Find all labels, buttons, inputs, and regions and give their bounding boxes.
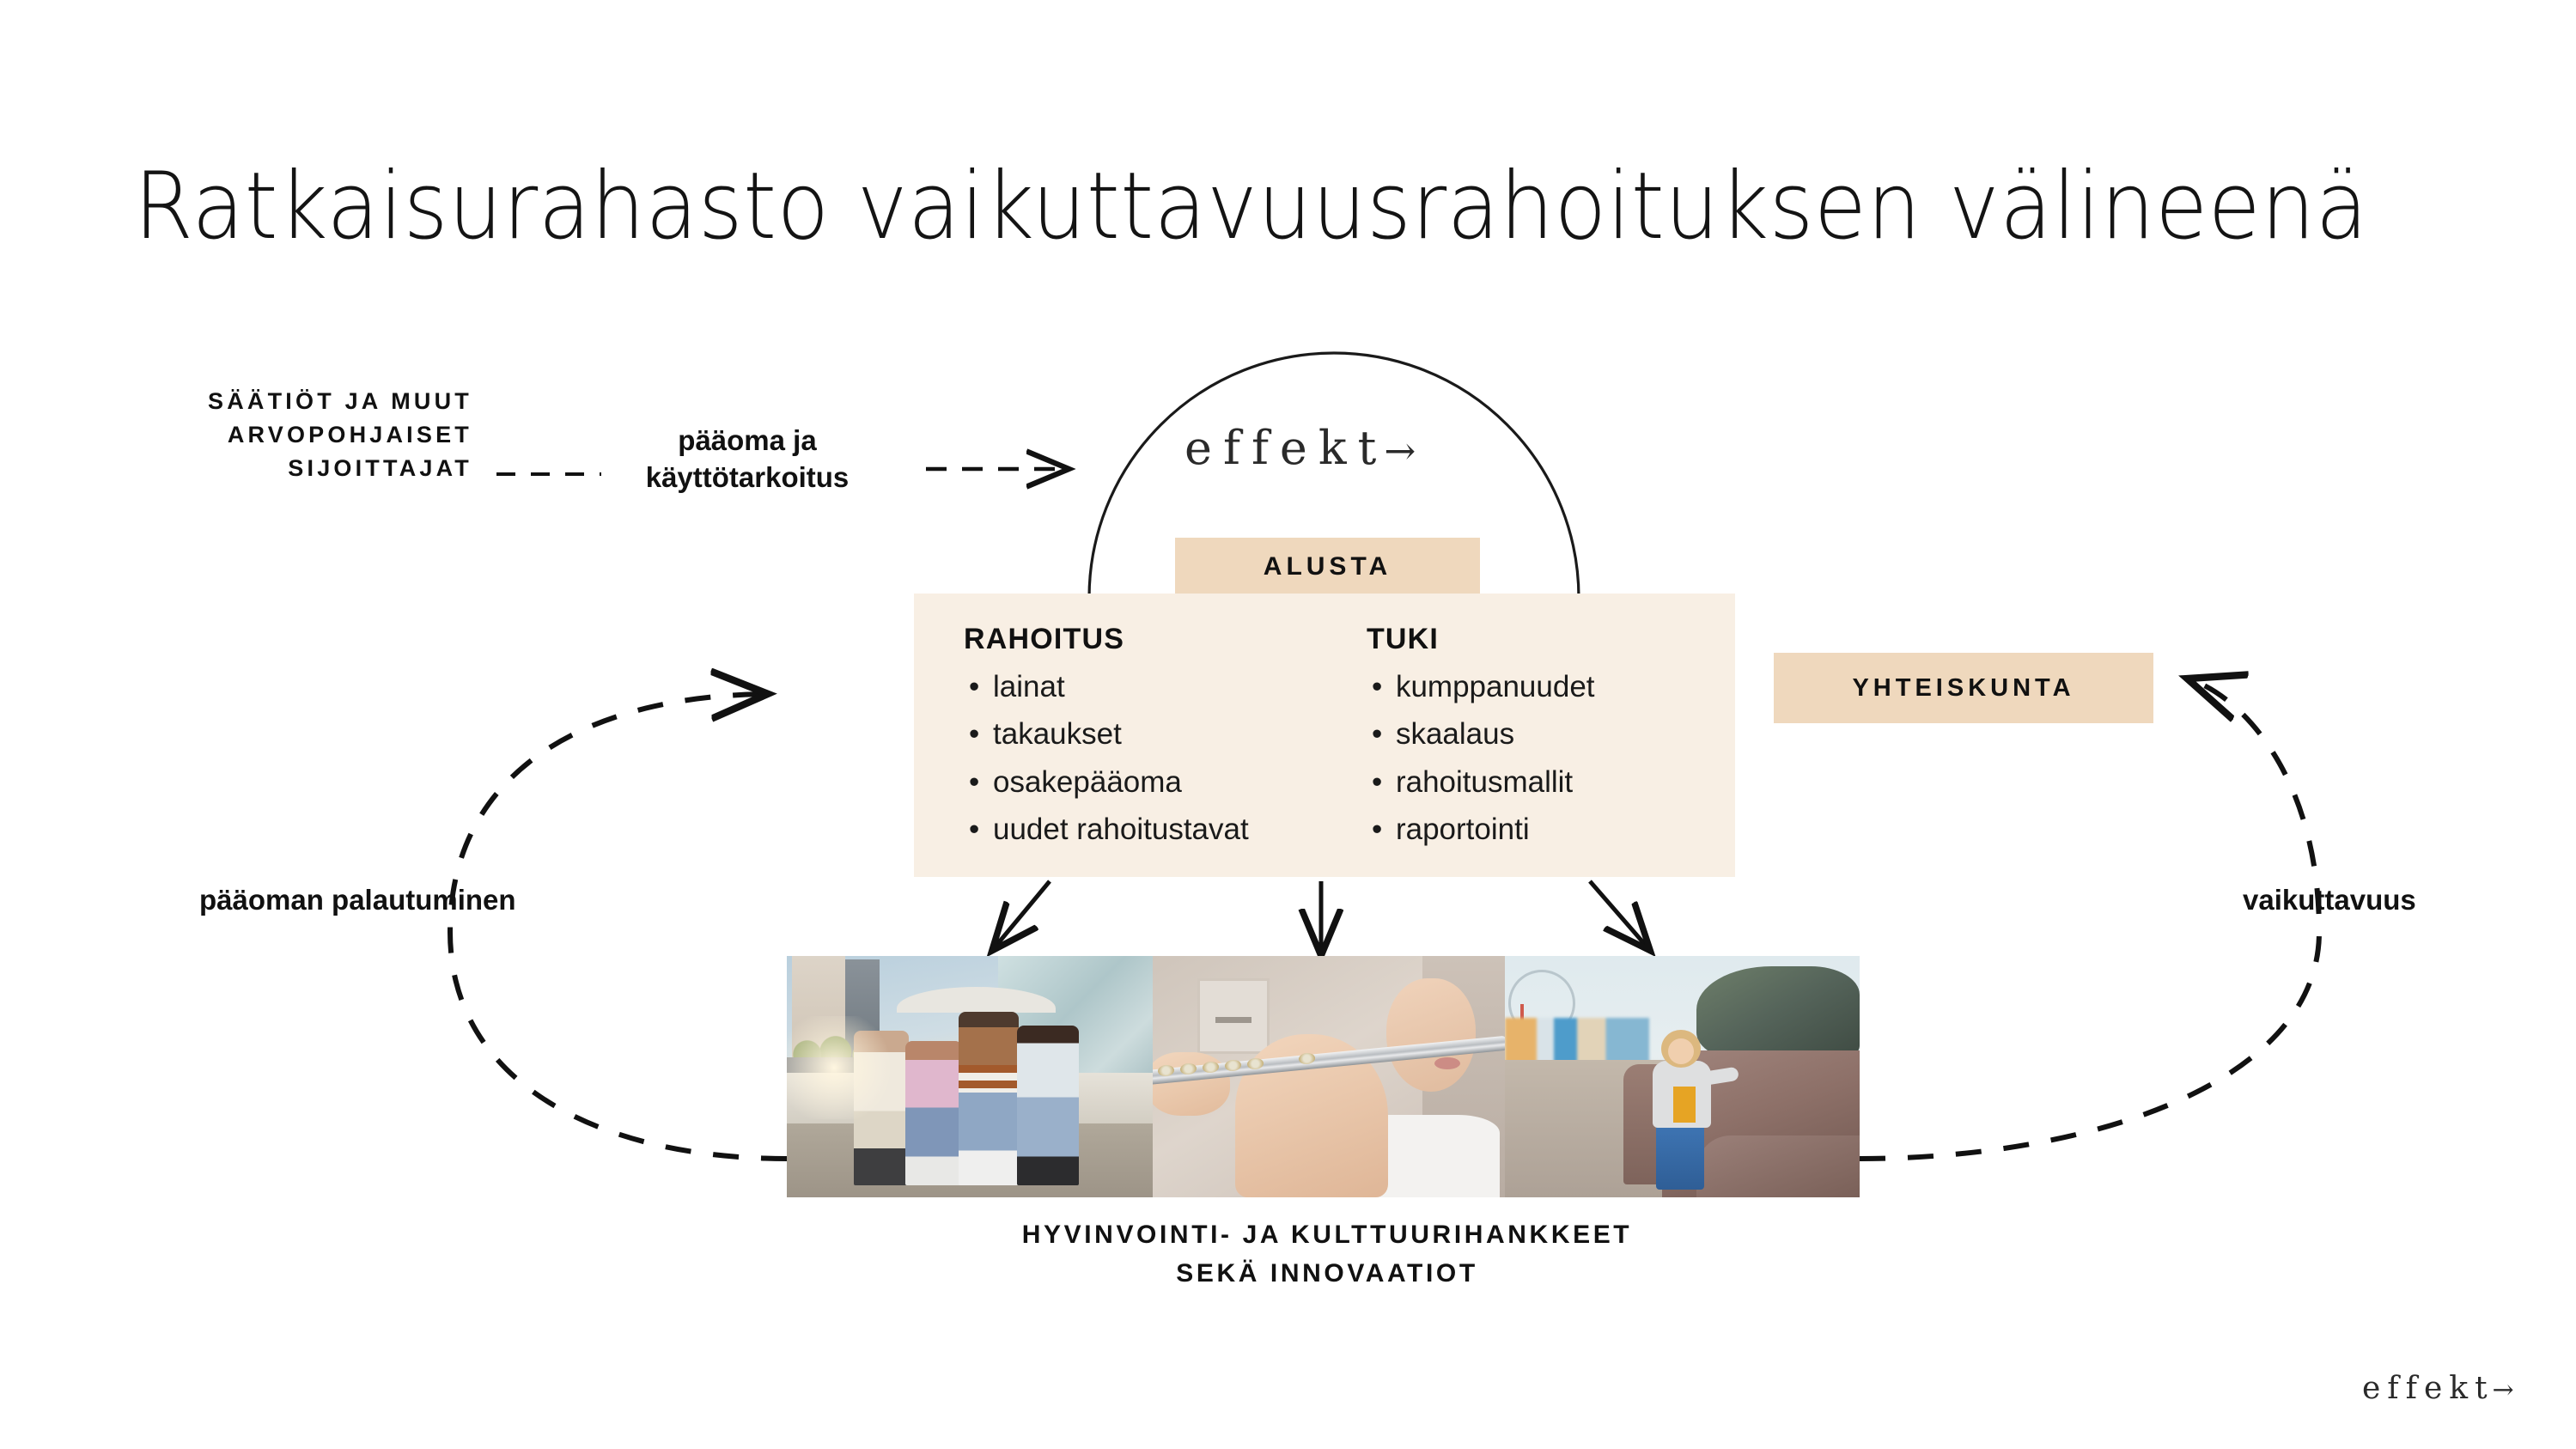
bullet-icon: • <box>1372 806 1382 853</box>
column-heading: RAHOITUS <box>964 623 1367 656</box>
bullet-icon: • <box>969 663 979 710</box>
effekt-arrow-icon: → <box>1384 429 1416 473</box>
effekt-wordmark: effekt <box>2362 1371 2494 1406</box>
capital-and-purpose-label: pääoma ja käyttötarkoitus <box>601 423 893 496</box>
return-loop-arrow <box>450 694 787 1159</box>
alusta-badge: ALUSTA <box>1175 538 1480 596</box>
list-item-label: skaalaus <box>1396 717 1514 751</box>
list-item: •uudet rahoitustavat <box>964 806 1367 853</box>
bullet-icon: • <box>969 758 979 806</box>
list-item-label: lainat <box>993 670 1065 703</box>
list-item: •raportointi <box>1367 806 1735 853</box>
bullet-icon: • <box>1372 710 1382 758</box>
platform-to-photo-arrow-left <box>995 881 1050 947</box>
project-caption: HYVINVOINTI- JA KULTTUURIHANKKEET SEKÄ I… <box>979 1215 1675 1293</box>
list-item-label: rahoitusmallit <box>1396 765 1573 799</box>
platform-column-tuki: TUKI •kumppanuudet •skaalaus •rahoitusma… <box>1367 623 1735 853</box>
list-item: •skaalaus <box>1367 710 1735 758</box>
list-item: •rahoitusmallit <box>1367 758 1735 806</box>
column-list: •kumppanuudet •skaalaus •rahoitusmallit … <box>1367 663 1735 853</box>
list-item-label: raportointi <box>1396 813 1530 846</box>
alusta-badge-label: ALUSTA <box>1264 552 1392 581</box>
bullet-icon: • <box>969 806 979 853</box>
platform-to-photo-arrow-right <box>1590 881 1647 947</box>
impact-label: vaikuttavuus <box>2243 884 2416 916</box>
page-title: Ratkaisurahasto vaikuttavuusrahoituksen … <box>134 153 2368 260</box>
capital-return-label: pääoman palautuminen <box>199 884 516 916</box>
bullet-icon: • <box>969 710 979 758</box>
list-item-label: uudet rahoitustavat <box>993 813 1249 846</box>
list-item: •takaukset <box>964 710 1367 758</box>
platform-panel: RAHOITUS •lainat •takaukset •osakepääoma… <box>914 594 1735 877</box>
list-item-label: osakepääoma <box>993 765 1182 799</box>
photo-toddler-statue <box>1505 956 1860 1197</box>
impact-loop-arrow <box>1860 680 2319 1159</box>
list-item-label: takaukset <box>993 717 1122 751</box>
bullet-icon: • <box>1372 663 1382 710</box>
photo-youth-group <box>787 956 1153 1197</box>
column-heading: TUKI <box>1367 623 1735 656</box>
investors-label: SÄÄTIÖT JA MUUT ARVOPOHJAISET SIJOITTAJA… <box>120 385 472 485</box>
effekt-wordmark: effekt <box>1184 421 1387 475</box>
effekt-logo: effekt→ <box>1184 421 1416 475</box>
project-photo-strip <box>787 956 1860 1197</box>
list-item: •kumppanuudet <box>1367 663 1735 710</box>
list-item: •osakepääoma <box>964 758 1367 806</box>
effekt-arrow-icon: → <box>2493 1375 2514 1405</box>
list-item: •lainat <box>964 663 1367 710</box>
photo-flute-player <box>1153 956 1505 1197</box>
column-list: •lainat •takaukset •osakepääoma •uudet r… <box>964 663 1367 853</box>
yhteiskunta-badge: YHTEISKUNTA <box>1774 653 2153 723</box>
effekt-logo-footer: effekt→ <box>2362 1371 2514 1406</box>
list-item-label: kumppanuudet <box>1396 670 1595 703</box>
platform-column-rahoitus: RAHOITUS •lainat •takaukset •osakepääoma… <box>964 623 1367 853</box>
yhteiskunta-badge-label: YHTEISKUNTA <box>1852 674 2074 703</box>
bullet-icon: • <box>1372 758 1382 806</box>
slide-canvas: Ratkaisurahasto vaikuttavuusrahoituksen … <box>0 0 2576 1449</box>
